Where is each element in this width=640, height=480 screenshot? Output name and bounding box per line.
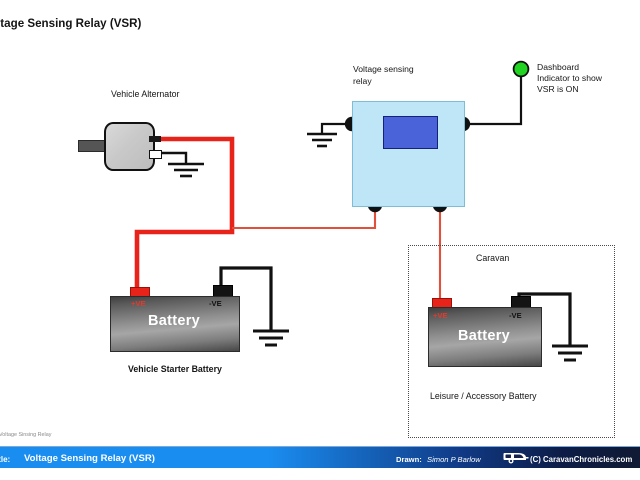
starter-battery-negative-label: -VE (209, 299, 222, 308)
dashboard-indicator-lamp (514, 62, 529, 77)
starter-battery-word: Battery (110, 313, 238, 329)
leisure-battery-positive-label: +VE (433, 311, 448, 320)
wire-dashboard-indicator (463, 76, 521, 124)
starter-battery-positive-label: +VE (131, 299, 146, 308)
indicator-label-line3: VSR is ON (537, 84, 579, 95)
caravan-label: Caravan (476, 253, 509, 264)
footer-title-key: itle: (0, 455, 10, 464)
file-note: : Voltage Sinsing Relay (0, 432, 51, 438)
alternator-terminal-positive (149, 136, 161, 142)
wire-relay-feed-positive (232, 205, 375, 228)
footer-copyright[interactable]: (C) CaravanChronicles.com (530, 455, 632, 464)
footer-drawn-key: Drawn: (396, 455, 422, 464)
alternator-terminal-negative (149, 150, 162, 159)
footer-drawn-value: Simon P Barlow (427, 455, 481, 464)
diagram-canvas: oltage Sensing Relay (VSR) (0, 0, 640, 480)
leisure-battery-caption: Leisure / Accessory Battery (430, 391, 537, 402)
indicator-label-line2: Indicator to show (537, 73, 602, 84)
relay-coil (383, 116, 438, 149)
ground-symbol-alternator (160, 153, 204, 176)
relay-label-line1: Voltage sensing (353, 64, 414, 75)
alternator-body (104, 122, 155, 171)
caravan-logo-icon (503, 450, 529, 465)
indicator-label-line1: Dashboard (537, 62, 579, 73)
alternator-label: Vehicle Alternator (111, 89, 179, 100)
leisure-battery-word: Battery (428, 328, 540, 344)
starter-battery-caption: Vehicle Starter Battery (128, 364, 222, 375)
relay-label-line2: relay (353, 76, 372, 87)
ground-symbol-relay (307, 124, 352, 146)
leisure-battery-negative-label: -VE (509, 311, 522, 320)
footer-title-value: Voltage Sensing Relay (VSR) (24, 453, 155, 464)
footer-bottom-rule (0, 468, 640, 470)
